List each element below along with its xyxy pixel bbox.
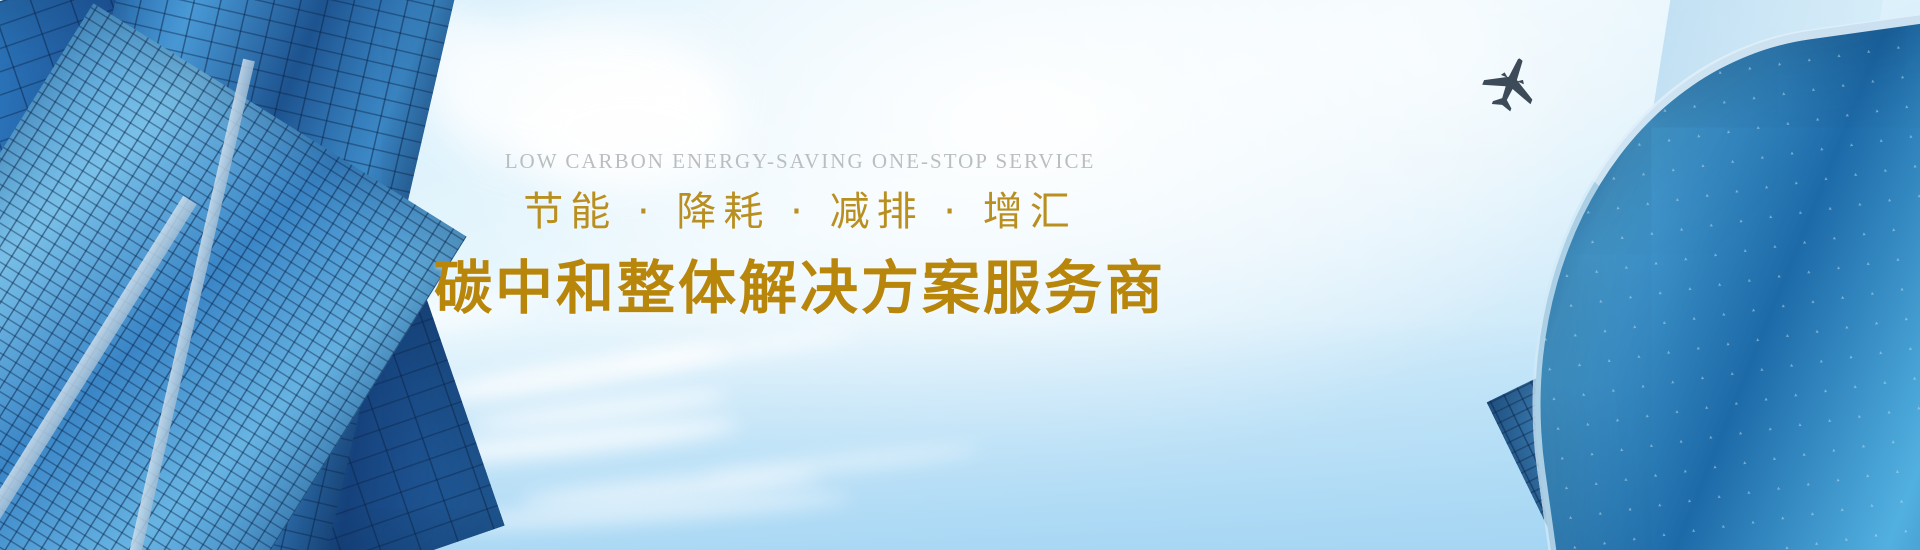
hero-banner: LOW CARBON ENERGY-SAVING ONE-STOP SERVIC…: [0, 0, 1920, 550]
hero-eyebrow: LOW CARBON ENERGY-SAVING ONE-STOP SERVIC…: [0, 150, 1600, 173]
hero-subheadline: 节能 · 降耗 · 减排 · 增汇: [0, 187, 1600, 237]
hero-text-block: LOW CARBON ENERGY-SAVING ONE-STOP SERVIC…: [0, 150, 1600, 324]
hero-headline: 碳中和整体解决方案服务商: [0, 253, 1600, 324]
